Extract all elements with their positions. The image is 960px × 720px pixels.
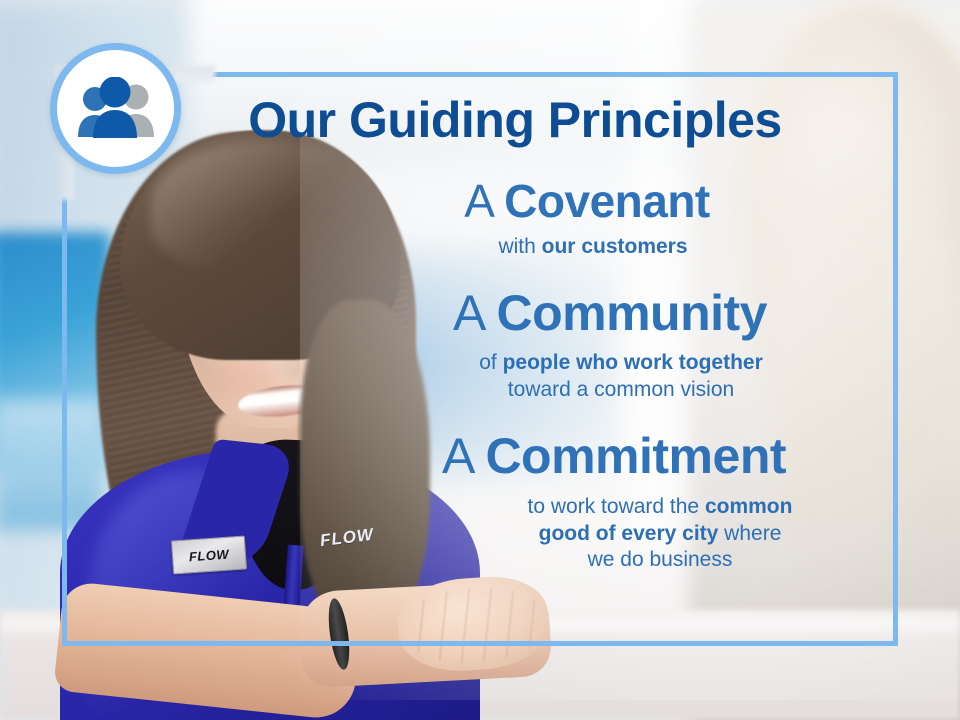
principle-covenant-sub-bold: our customers (542, 235, 688, 258)
banner-canvas: FLOW FLOW (0, 0, 960, 720)
photo-name-badge: FLOW (171, 535, 247, 574)
principle-community-word: Community (496, 285, 767, 341)
principle-community-article: A (453, 285, 496, 341)
principle-community-sub-line1: of people who work together (342, 350, 900, 376)
page-title: Our Guiding Principles (0, 95, 960, 145)
principle-covenant-headline: A Covenant (300, 178, 900, 225)
principle-commitment-sub-bold1: common (705, 495, 793, 518)
principle-commitment-word: Commitment (485, 428, 786, 484)
principle-commitment-sub-lite2: where (718, 522, 781, 545)
principle-covenant: A Covenant with our customers (300, 178, 900, 260)
principle-commitment-article: A (442, 428, 485, 484)
principle-community-sub-line2: toward a common vision (342, 377, 900, 403)
principle-commitment-sub-line2: good of every city where (420, 521, 900, 547)
principle-commitment: A Commitment to work toward the common g… (300, 431, 900, 573)
principle-commitment-sub: to work toward the common good of every … (300, 494, 900, 573)
principle-community-sub-bold: people who work together (503, 351, 763, 374)
principles-list: A Covenant with our customers A Communit… (300, 178, 900, 574)
principle-community-sub: of people who work together toward a com… (300, 350, 900, 403)
principle-covenant-sub: with our customers (300, 234, 900, 260)
principle-community-headline: A Community (300, 288, 900, 339)
principle-commitment-sub-line3: we do business (420, 547, 900, 573)
name-badge-text: FLOW (188, 546, 229, 564)
principle-commitment-sub-bold2: good of every city (539, 522, 719, 545)
principle-covenant-word: Covenant (504, 175, 710, 227)
principle-commitment-sub-lite1: to work toward the (528, 495, 705, 518)
principle-commitment-headline: A Commitment (300, 431, 900, 482)
principle-covenant-sub-lite: with (498, 235, 541, 258)
principle-commitment-sub-line1: to work toward the common (420, 494, 900, 520)
principle-covenant-article: A (464, 175, 504, 227)
principle-community-sub-lite: of (479, 351, 502, 374)
principle-community: A Community of people who work together … (300, 288, 900, 403)
